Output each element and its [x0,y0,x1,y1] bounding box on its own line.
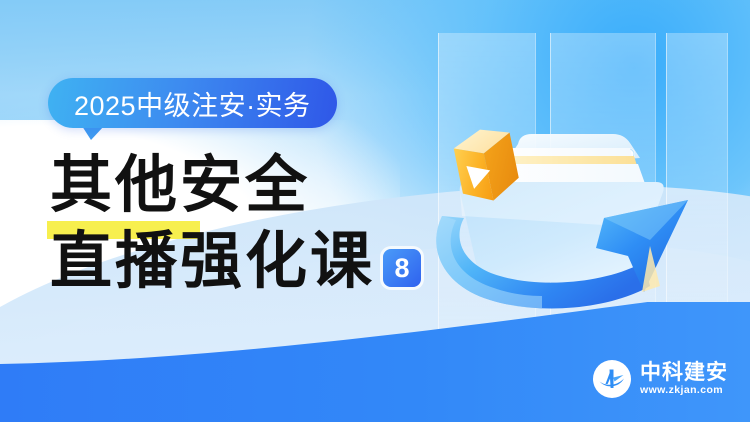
course-promo-banner: 2025中级注安·实务 其他安全 直播强化课 8 中科建安 www.zkjan.… [0,0,750,422]
headline-line-2: 直播强化课 [50,226,375,296]
brand-url: www.zkjan.com [640,385,728,396]
folder-arrow-illustration [398,96,708,336]
brand-name: 中科建安 [640,362,728,383]
brand-logo[interactable]: 中科建安 www.zkjan.com [593,360,728,398]
brand-mark-icon [593,360,631,398]
pill-tail [82,126,104,140]
headline-block: 其他安全 直播强化课 8 [50,150,421,296]
course-category-label: 2025中级注安·实务 [74,84,311,123]
episode-number-badge: 8 [383,249,421,287]
headline-line-1: 其他安全 [50,150,421,220]
headline-line-2-row: 直播强化课 8 [50,226,421,296]
brand-text: 中科建安 www.zkjan.com [640,362,728,396]
course-category-badge: 2025中级注安·实务 [48,78,337,128]
